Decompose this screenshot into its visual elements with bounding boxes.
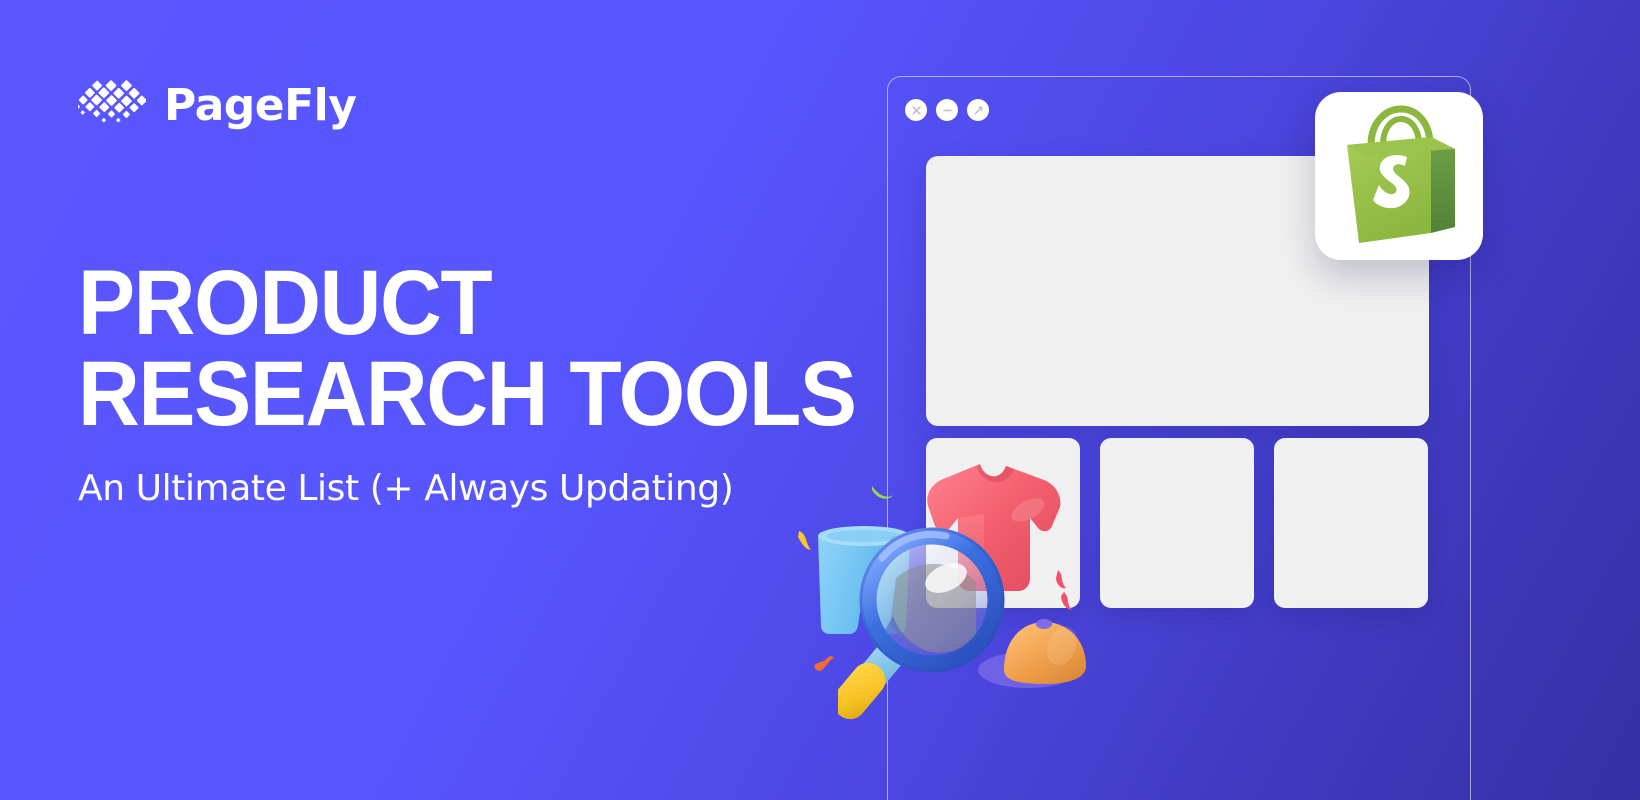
product-card-2[interactable]: [1100, 438, 1254, 608]
brand-name: PageFly: [164, 84, 356, 128]
hero-subtitle: An Ultimate List (+ Always Updating): [78, 468, 838, 509]
confetti-green-icon: [870, 482, 896, 509]
shopify-bag-icon: [1335, 105, 1463, 247]
confetti-orange-icon: [812, 652, 836, 679]
page-title: PRODUCT RESEARCH TOOLS: [78, 258, 785, 440]
promo-banner: PageFly PRODUCT RESEARCH TOOLS An Ultima…: [0, 0, 1640, 800]
window-controls: [905, 99, 989, 121]
hero-copy: PRODUCT RESEARCH TOOLS An Ultimate List …: [78, 258, 838, 509]
confetti-yellow-icon: [795, 528, 817, 561]
brand-logo[interactable]: PageFly: [78, 72, 356, 140]
maximize-icon[interactable]: [967, 99, 989, 121]
confetti-pink-icon: [1052, 568, 1078, 617]
headline-line-2: RESEARCH TOOLS: [78, 349, 785, 440]
magnifier-3d-icon: [838, 520, 1008, 726]
product-card-3[interactable]: [1274, 438, 1428, 608]
headline-line-1: PRODUCT: [78, 258, 785, 349]
pagefly-diamond-grid-icon: [78, 72, 146, 140]
close-icon[interactable]: [905, 99, 927, 121]
minimize-icon[interactable]: [936, 99, 958, 121]
shopify-badge[interactable]: [1315, 92, 1483, 260]
